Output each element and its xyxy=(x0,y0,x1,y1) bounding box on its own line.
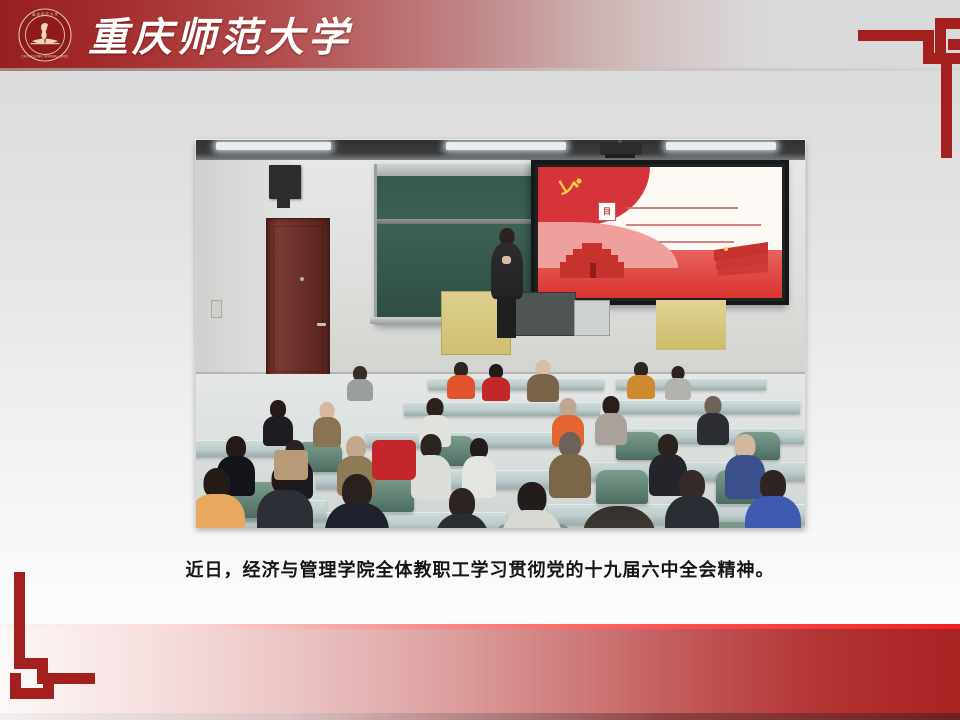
attendee xyxy=(262,400,294,444)
ceiling-projector xyxy=(600,142,642,155)
footer-base-strip xyxy=(0,713,960,720)
attendee xyxy=(410,434,452,496)
footer-gradient-band xyxy=(0,629,960,713)
ceiling-light xyxy=(216,142,331,150)
page-title: 重庆师范大学 xyxy=(88,4,352,64)
projected-slide: 目 录 xyxy=(538,167,782,298)
slide-item-2 xyxy=(626,224,761,226)
ceiling-light xyxy=(666,142,776,150)
meeting-photo-frame: 目 录 xyxy=(196,140,805,528)
ceiling-light xyxy=(446,142,566,150)
svg-text:CHONGQING NORMAL UNIV.: CHONGQING NORMAL UNIV. xyxy=(21,55,68,59)
av-box xyxy=(574,300,610,336)
header-shadow xyxy=(0,68,960,71)
presenter xyxy=(490,228,524,336)
attendee xyxy=(446,362,476,396)
slide-contents-char-1: 目 xyxy=(598,202,616,221)
attendee xyxy=(196,468,246,528)
foreground-attendee-blue-jacket xyxy=(534,506,704,528)
wall-speaker xyxy=(269,165,301,199)
attendee xyxy=(324,474,390,528)
attendee xyxy=(481,364,511,398)
presentation-slide: 重 庆 师 范 大 学 CHONGQING NORMAL UNIV. 重庆师范大… xyxy=(0,0,960,720)
attendee xyxy=(526,360,560,400)
classroom-door xyxy=(266,218,330,380)
university-seal-icon: 重 庆 师 范 大 学 CHONGQING NORMAL UNIV. xyxy=(17,7,73,63)
light-switch xyxy=(211,300,222,318)
svg-text:重 庆 师 范 大 学: 重 庆 师 范 大 学 xyxy=(32,12,58,17)
slide-red-banner xyxy=(538,167,650,225)
hammer-and-sickle-icon xyxy=(557,176,587,198)
photo-caption: 近日，经济与管理学院全体教职工学习贯彻党的十九届六中全会精神。 xyxy=(0,556,960,582)
meeting-photo: 目 录 xyxy=(196,140,805,528)
attendee xyxy=(434,488,490,528)
attendee xyxy=(664,366,692,398)
projection-screen: 目 录 xyxy=(531,160,789,305)
attendee xyxy=(594,396,628,442)
red-flags-icon xyxy=(712,240,774,276)
slide-item-1 xyxy=(626,207,738,209)
chinese-corner-ornament-icon-bottom-left xyxy=(10,572,130,712)
door-peephole xyxy=(300,277,304,281)
lectern-right xyxy=(656,300,726,350)
attendee xyxy=(744,470,802,528)
red-backpack xyxy=(372,440,416,480)
attendee xyxy=(626,362,656,396)
tiananmen-gate-icon xyxy=(556,242,628,278)
attendee xyxy=(346,366,374,398)
chair xyxy=(596,470,648,504)
handbag xyxy=(274,450,308,480)
chinese-corner-ornament-icon-top-right xyxy=(840,6,960,158)
door-handle xyxy=(317,323,326,326)
